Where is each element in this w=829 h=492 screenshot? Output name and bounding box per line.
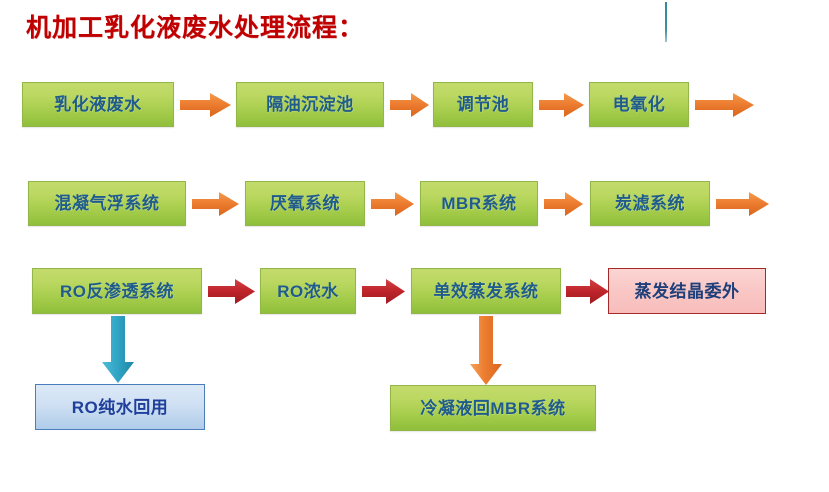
arrow-n9-n10 <box>208 278 256 305</box>
node-ro-concentrate[interactable]: RO浓水 <box>260 268 356 314</box>
node-label: 蒸发结晶委外 <box>635 283 740 300</box>
node-crystallization-outsourced[interactable]: 蒸发结晶委外 <box>608 268 766 314</box>
node-label: RO反渗透系统 <box>60 283 174 300</box>
top-divider-rule <box>665 2 667 42</box>
node-mbr-system[interactable]: MBR系统 <box>420 181 538 226</box>
node-label: RO纯水回用 <box>72 399 169 416</box>
node-ro-reverse-osmosis[interactable]: RO反渗透系统 <box>32 268 202 314</box>
arrow-n11-n14-down <box>469 316 503 386</box>
node-emulsion-wastewater[interactable]: 乳化液废水 <box>22 82 174 127</box>
node-anaerobic-system[interactable]: 厌氧系统 <box>245 181 365 226</box>
arrow-n5-n6 <box>192 191 240 217</box>
node-carbon-filter-system[interactable]: 炭滤系统 <box>590 181 710 226</box>
node-label: 混凝气浮系统 <box>55 195 160 212</box>
arrow-n9-n13-down <box>101 316 135 384</box>
arrow-n3-n4 <box>539 92 585 118</box>
arrow-n2-n3 <box>390 92 430 118</box>
arrow-row1-continue <box>695 92 755 118</box>
flowchart-canvas: 机加工乳化液废水处理流程： 乳化液废水 隔油沉淀池 调节池 <box>0 0 829 492</box>
arrow-n11-n12 <box>566 278 610 305</box>
node-label: 厌氧系统 <box>270 195 340 212</box>
node-label: 乳化液废水 <box>54 96 142 113</box>
arrow-n7-n8 <box>544 191 584 217</box>
arrow-n10-n11 <box>362 278 406 305</box>
node-label: RO浓水 <box>277 283 339 300</box>
node-coagulation-flotation[interactable]: 混凝气浮系统 <box>28 181 186 226</box>
node-condensate-to-mbr[interactable]: 冷凝液回MBR系统 <box>390 385 596 431</box>
node-oil-separation-tank[interactable]: 隔油沉淀池 <box>236 82 384 127</box>
node-electro-oxidation[interactable]: 电氧化 <box>589 82 689 127</box>
node-label: 炭滤系统 <box>615 195 685 212</box>
node-equalization-tank[interactable]: 调节池 <box>433 82 533 127</box>
page-title: 机加工乳化液废水处理流程： <box>26 8 364 44</box>
node-label: 冷凝液回MBR系统 <box>420 400 565 417</box>
node-single-effect-evaporation[interactable]: 单效蒸发系统 <box>411 268 561 314</box>
arrow-row2-continue <box>716 191 770 217</box>
node-label: 单效蒸发系统 <box>434 283 539 300</box>
node-label: 调节池 <box>457 96 510 113</box>
node-ro-permeate-reuse[interactable]: RO纯水回用 <box>35 384 205 430</box>
node-label: MBR系统 <box>441 195 516 212</box>
arrow-n1-n2 <box>180 92 232 118</box>
arrow-n6-n7 <box>371 191 415 217</box>
node-label: 电氧化 <box>613 96 666 113</box>
node-label: 隔油沉淀池 <box>266 96 354 113</box>
